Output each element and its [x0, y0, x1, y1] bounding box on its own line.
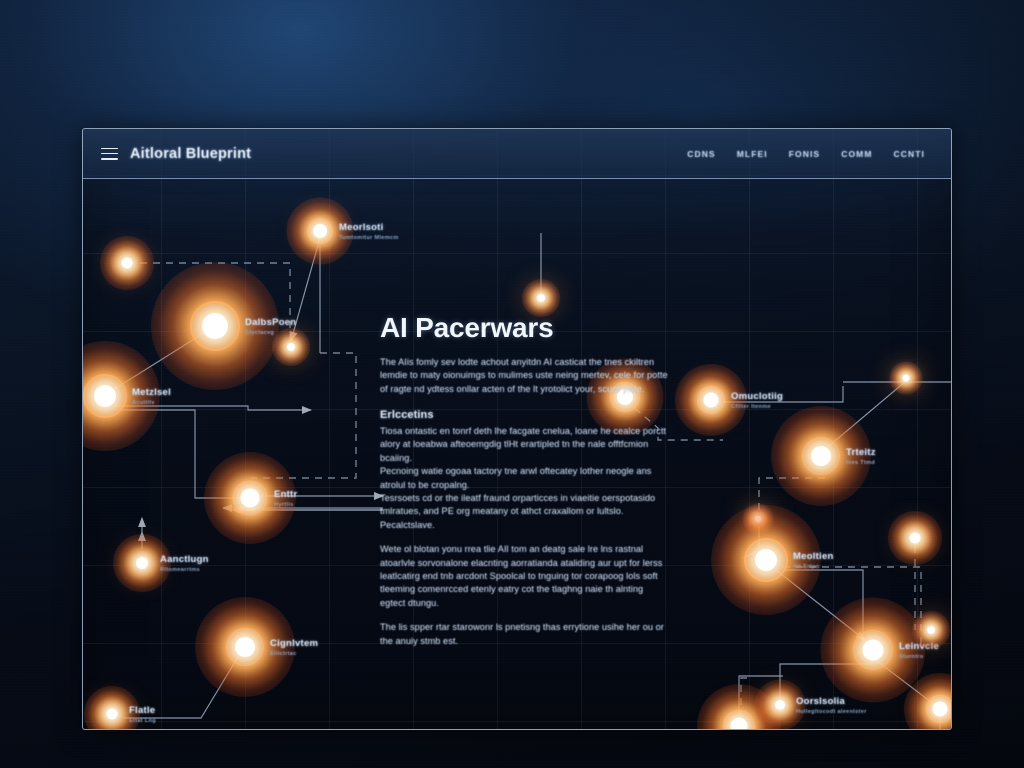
node-core-icon [811, 446, 831, 466]
nav-item-3[interactable]: FONIS [789, 149, 820, 159]
nav-item-4[interactable]: COMM [841, 149, 872, 159]
node-label-subtitle: Cfllter Itenme [731, 403, 783, 409]
node-label-title: Flatle [129, 705, 156, 716]
app-header-bar: Aitloral Blueprint CDNS MLFEI FONIS COMM… [83, 129, 951, 179]
node-core-icon [107, 709, 118, 720]
body-paragraph-1: Wete ol blotan yonu rrea tlie AIl tom an… [380, 543, 668, 610]
node-label-subtitle: Hyrtlis [274, 501, 297, 507]
node-label-title: Meoltien [793, 551, 834, 562]
node-core-icon [122, 258, 133, 269]
node-core-icon [927, 626, 935, 634]
node-label: MeoltienIttt Ertpo [793, 551, 834, 570]
nav-item-1[interactable]: CDNS [687, 149, 716, 159]
node-label-title: Trteitz [846, 447, 876, 458]
node-label-subtitle: Hullegltocodt aleenlster [796, 708, 867, 714]
article-panel: AI Pacerwars The AIis fomly sev lodte ac… [380, 313, 668, 658]
node-label: OorslsoliaHullegltocodt aleenlster [796, 696, 867, 715]
node-label-title: Enttr [274, 489, 297, 500]
node-core-icon [731, 718, 748, 731]
node-label-subtitle: Rltomearrtms [160, 566, 209, 572]
node-label: FlatleEttat Lng [129, 705, 156, 724]
hamburger-menu-icon[interactable] [101, 148, 118, 160]
page-title: AI Pacerwars [380, 313, 668, 344]
node-label-subtitle: Ines Ttmd [846, 459, 876, 465]
node-core-icon [202, 313, 228, 339]
node-label-subtitle: Tumtomitur Mlemcm [339, 234, 399, 240]
app-window-frame: Aitloral Blueprint CDNS MLFEI FONIS COMM… [82, 128, 952, 730]
node-label: OmuclotiigCfllter Itenme [731, 391, 783, 410]
node-label-title: DalbsPoen [245, 317, 296, 328]
node-label-subtitle: Ittt Ertpo [793, 563, 834, 569]
node-core-icon [94, 385, 116, 407]
screenshot-canvas: Aitloral Blueprint CDNS MLFEI FONIS COMM… [0, 0, 1024, 768]
node-core-icon [755, 549, 777, 571]
nav-item-2[interactable]: MLFEI [737, 149, 768, 159]
section-heading-1: Erlccetins [380, 409, 668, 421]
node-core-icon [910, 533, 921, 544]
node-core-icon [235, 637, 255, 657]
node-label-subtitle: Elilctrtac [270, 650, 318, 656]
node-label-title: Oorslsolia [796, 696, 867, 707]
node-label-title: Cignlvtem [270, 638, 318, 649]
node-core-icon [241, 489, 260, 508]
node-label: EnttrHyrtlis [274, 489, 297, 508]
section-body-1: Tiosa ontastic en tonrf deth lhe facgate… [380, 425, 668, 532]
node-label: AanctlugnRltomearrtms [160, 554, 209, 573]
node-label: MeorlsotiTumtomitur Mlemcm [339, 222, 399, 241]
node-core-icon [903, 375, 910, 382]
node-core-icon [933, 702, 948, 717]
node-label-title: Omuclotiig [731, 391, 783, 402]
node-core-icon [863, 640, 884, 661]
network-diagram-canvas: MeorlsotiTumtomitur MlemcmDalbsPoenCtycl… [83, 178, 951, 729]
node-label-title: Metzlsel [132, 387, 171, 398]
node-core-icon [704, 393, 719, 408]
header-nav: CDNS MLFEI FONIS COMM CCNTI [687, 149, 925, 159]
node-core-icon [775, 700, 785, 710]
node-label-subtitle: Acutlilv [132, 399, 171, 405]
body-paragraph-2: The lis spper rtar starowonr ls pnetisng… [380, 621, 668, 648]
node-label: MetzlselAcutlilv [132, 387, 171, 406]
node-label-title: Meorlsoti [339, 222, 399, 233]
node-core-icon [287, 343, 295, 351]
node-core-icon [537, 294, 545, 302]
node-label-subtitle: Ettat Lng [129, 717, 156, 723]
node-label: CignlvtemElilctrtac [270, 638, 318, 657]
nav-item-5[interactable]: CCNTI [894, 149, 925, 159]
node-label-title: Aanctlugn [160, 554, 209, 565]
app-title: Aitloral Blueprint [130, 146, 251, 162]
node-label: TrteitzInes Ttmd [846, 447, 876, 466]
node-core-icon [313, 224, 327, 238]
intro-paragraph: The AIis fomly sev lodte achout anyitdn … [380, 356, 668, 396]
node-label-subtitle: Sturntro [899, 653, 939, 659]
node-core-icon [136, 557, 148, 569]
